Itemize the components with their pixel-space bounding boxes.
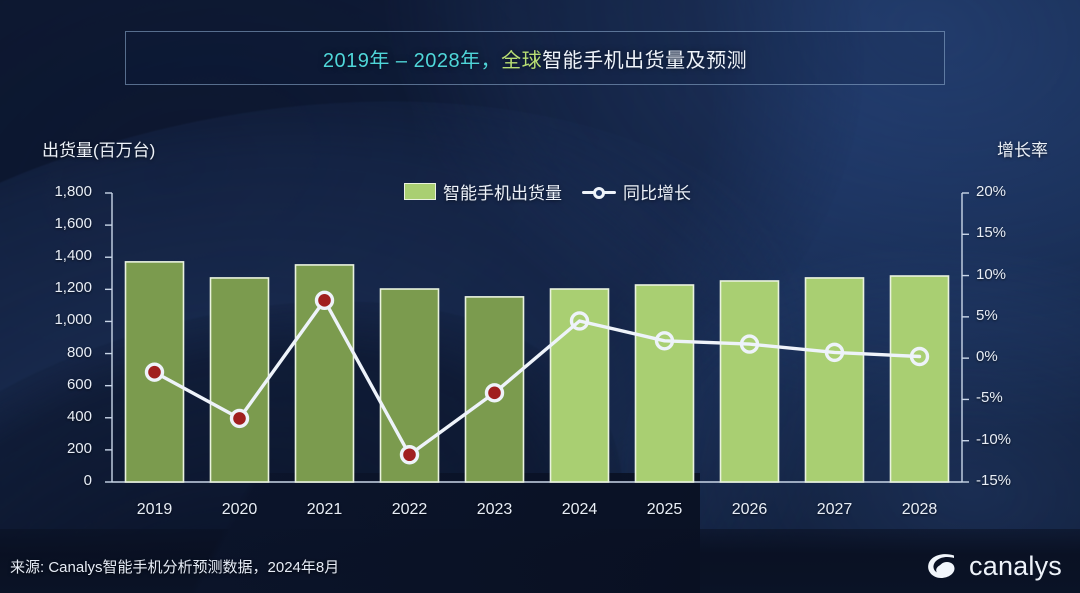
left-axis-tick-label: 1,200 — [20, 279, 92, 296]
right-axis-tick-label: -5% — [976, 389, 1056, 406]
right-axis-tick-label: -15% — [976, 472, 1056, 489]
left-axis-tick-label: 1,800 — [20, 183, 92, 200]
growth-marker-2019[interactable] — [147, 364, 163, 380]
left-axis-tick-label: 800 — [20, 344, 92, 361]
left-axis-tick-label: 1,000 — [20, 311, 92, 328]
left-axis-tick-label: 1,600 — [20, 215, 92, 232]
right-axis-tick-label: 15% — [976, 224, 1056, 241]
x-axis-tick-label-2028: 2028 — [875, 501, 965, 519]
x-axis-tick-label-2019: 2019 — [110, 501, 200, 519]
left-axis-tick-label: 1,400 — [20, 247, 92, 264]
right-axis-tick-label: 10% — [976, 266, 1056, 283]
canalys-swirl-icon — [924, 548, 960, 584]
growth-marker-2020[interactable] — [232, 410, 248, 426]
x-axis-tick-label-2020: 2020 — [195, 501, 285, 519]
slide-root: 2019年 – 2028年，全球智能手机出货量及预测 出货量(百万台) 增长率 … — [0, 0, 1080, 593]
bar-2026[interactable] — [721, 281, 779, 482]
left-axis-tick-label: 400 — [20, 408, 92, 425]
x-axis-tick-label-2026: 2026 — [705, 501, 795, 519]
left-axis-tick-label: 200 — [20, 440, 92, 457]
bar-2025[interactable] — [636, 285, 694, 482]
left-axis-tick-label: 0 — [20, 472, 92, 489]
growth-marker-2021[interactable] — [317, 292, 333, 308]
canalys-logo: canalys — [924, 548, 1062, 584]
x-axis-tick-label-2023: 2023 — [450, 501, 540, 519]
right-axis-tick-label: 5% — [976, 307, 1056, 324]
left-axis-tick-label: 600 — [20, 376, 92, 393]
growth-marker-2023[interactable] — [487, 385, 503, 401]
bar-2020[interactable] — [211, 278, 269, 482]
bar-2024[interactable] — [551, 289, 609, 482]
x-axis-tick-label-2022: 2022 — [365, 501, 455, 519]
canalys-logo-text: canalys — [969, 551, 1062, 582]
x-axis-tick-label-2025: 2025 — [620, 501, 710, 519]
bar-2027[interactable] — [806, 278, 864, 482]
growth-marker-2022[interactable] — [402, 447, 418, 463]
bar-2028[interactable] — [891, 276, 949, 482]
x-axis-tick-label-2027: 2027 — [790, 501, 880, 519]
x-axis-tick-label-2024: 2024 — [535, 501, 625, 519]
source-note: 来源: Canalys智能手机分析预测数据，2024年8月 — [10, 556, 339, 577]
right-axis-tick-label: 0% — [976, 348, 1056, 365]
x-axis-tick-label-2021: 2021 — [280, 501, 370, 519]
right-axis-tick-label: 20% — [976, 183, 1056, 200]
right-axis-tick-label: -10% — [976, 431, 1056, 448]
chart-plot-area: 02004006008001,0001,2001,4001,6001,800-1… — [0, 0, 1080, 593]
